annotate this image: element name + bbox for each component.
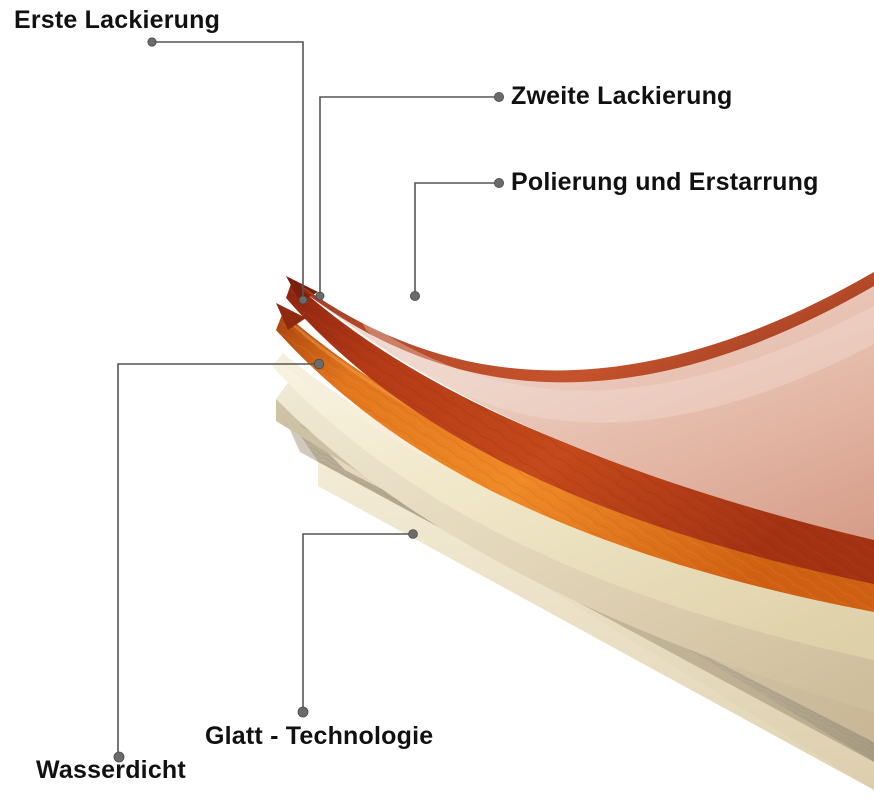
callout-label-zweite-lackierung: Zweite Lackierung xyxy=(511,84,733,109)
dot-glatt-label xyxy=(298,707,308,717)
dot-glatt-target xyxy=(409,530,418,539)
dot-erste-lackierung-label xyxy=(148,38,156,46)
leader-polierung-und-erstarrung xyxy=(415,183,499,296)
callout-label-erste-lackierung: Erste Lackierung xyxy=(14,8,220,33)
layered-panel-diagram: Erste Lackierung Zweite Lackierung Polie… xyxy=(0,0,874,800)
leader-zweite-lackierung xyxy=(320,97,499,296)
dot-wasserdicht-target xyxy=(314,359,324,369)
leader-glatt-technologie xyxy=(303,534,413,712)
callout-label-wasserdicht: Wasserdicht xyxy=(36,758,186,783)
callout-label-glatt-technologie: Glatt - Technologie xyxy=(205,724,433,749)
callout-label-polierung-und-erstarrung: Polierung und Erstarrung xyxy=(511,170,819,195)
dot-zweite-lackierung-target xyxy=(316,292,324,300)
leader-erste-lackierung xyxy=(152,42,303,300)
dot-erste-lackierung-target xyxy=(299,296,307,304)
dot-zweite-lackierung-label xyxy=(494,92,503,101)
panel-illustration xyxy=(0,0,874,800)
dot-polierung-label xyxy=(494,178,503,187)
dot-polierung-target xyxy=(410,291,419,300)
